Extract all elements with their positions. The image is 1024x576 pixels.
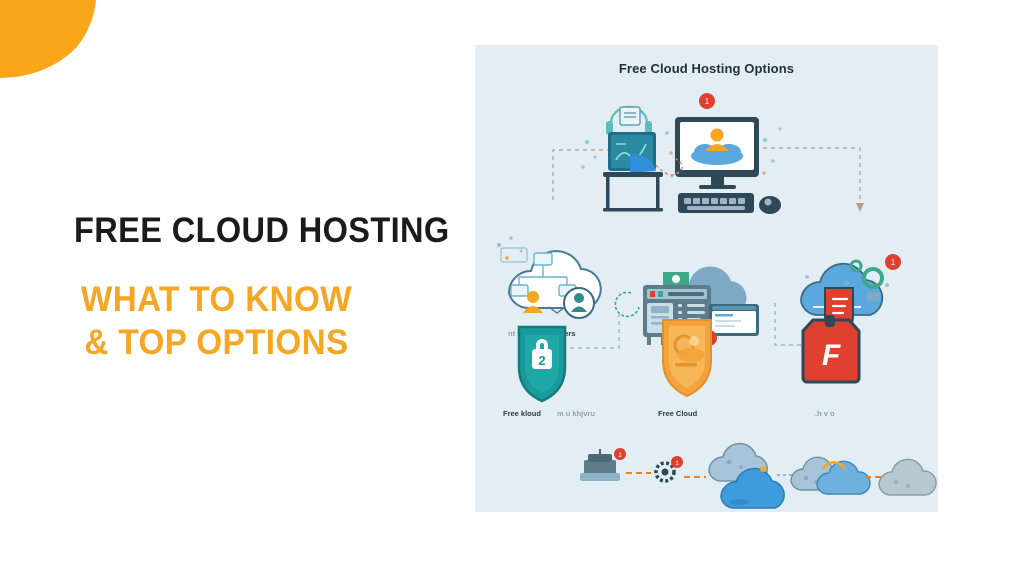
svg-text:1: 1 bbox=[618, 452, 622, 459]
orange-cloud-shield-icon bbox=[663, 320, 711, 396]
free-cloud-label-2: Free Cloud bbox=[658, 409, 698, 418]
illustration-scene: 1 bbox=[475, 45, 938, 512]
badge-right-row-label: 1 bbox=[891, 258, 896, 267]
price-tag-label: .h v o bbox=[815, 409, 835, 418]
badge-top-row-label: 1 bbox=[705, 97, 710, 106]
cloud-grey-icon bbox=[879, 459, 936, 495]
server-case-icon bbox=[580, 449, 620, 481]
bottom-flow-row: 1 1 bbox=[580, 444, 936, 508]
price-tag-glyph: F bbox=[822, 339, 841, 372]
headline-block: FREE CLOUD HOSTING WHAT TO KNOW & TOP OP… bbox=[0, 0, 448, 576]
cloud-pair-large-icon bbox=[709, 444, 784, 508]
svg-text:1: 1 bbox=[675, 460, 679, 467]
red-price-tag-icon: F bbox=[803, 315, 859, 382]
desktop-computer-icon bbox=[675, 117, 781, 214]
free-cloud-label-1-suffix: m u khjvru bbox=[557, 409, 595, 418]
illustration-panel: Free Cloud Hosting Options bbox=[475, 45, 938, 512]
teal-lock-shield-icon: 2 bbox=[519, 327, 565, 401]
dashed-connector-right bbox=[763, 148, 860, 203]
cloud-with-users-icon bbox=[509, 251, 601, 318]
arrow-head-right bbox=[856, 203, 864, 212]
monitor-on-stand-icon bbox=[603, 107, 663, 212]
teal-shield-number: 2 bbox=[538, 353, 545, 368]
cloud-pair-arc-icon bbox=[791, 457, 870, 494]
free-cloud-label-1: Free kloud bbox=[503, 409, 541, 418]
page-title: FREE CLOUD HOSTING bbox=[74, 211, 450, 251]
page-subtitle: WHAT TO KNOW & TOP OPTIONS bbox=[74, 279, 359, 364]
gear-node-icon bbox=[656, 463, 674, 481]
